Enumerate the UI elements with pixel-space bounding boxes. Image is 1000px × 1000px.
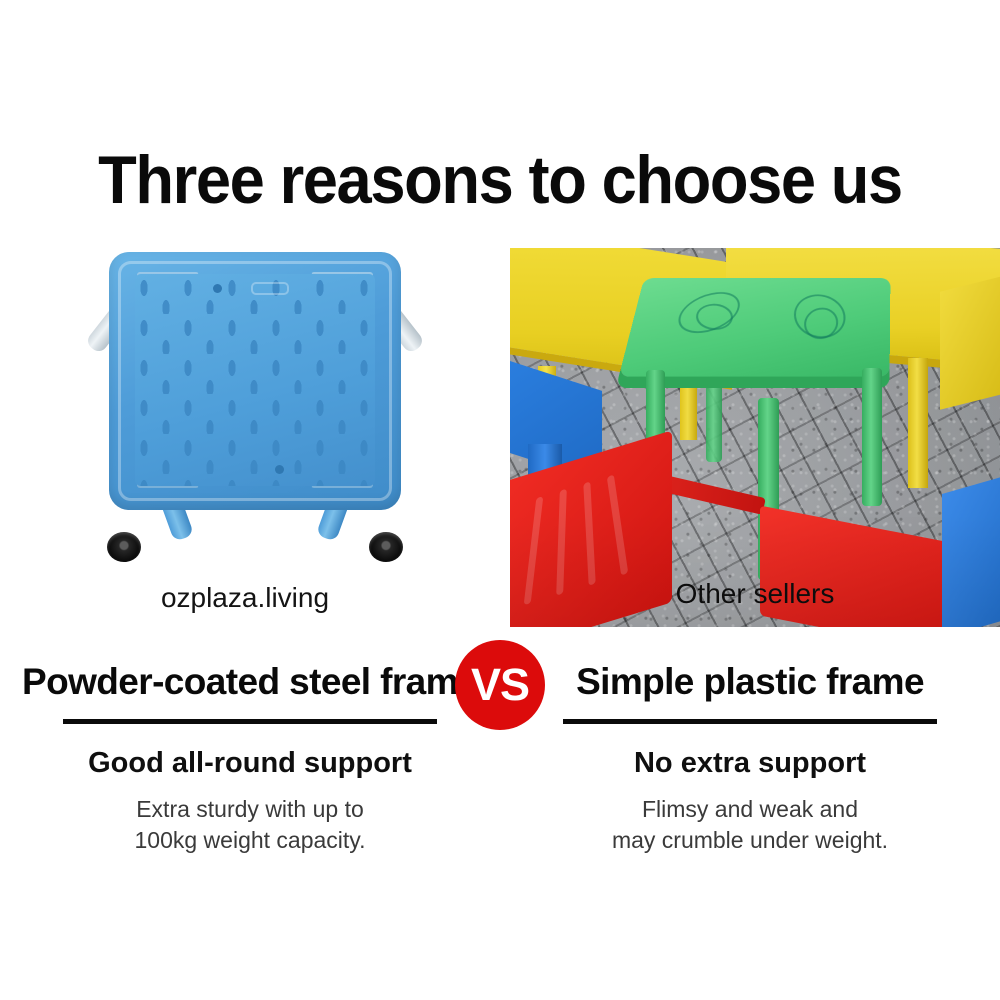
comparison-column-ozplaza: Powder-coated steel frame Good all-round… bbox=[0, 660, 500, 856]
page-title: Three reasons to choose us bbox=[35, 143, 965, 217]
rubber-foot-bottom-left bbox=[107, 532, 141, 562]
photo-vignette bbox=[510, 248, 1000, 627]
rubber-foot-bottom-right bbox=[369, 532, 403, 562]
left-body-text: Extra sturdy with up to 100kg weight cap… bbox=[0, 794, 500, 856]
panel-dimple-texture bbox=[135, 274, 375, 486]
panel-hole-lower bbox=[275, 465, 284, 474]
caption-other-sellers: Other sellers bbox=[510, 578, 1000, 610]
comparison-media-band: ozplaza.living bbox=[0, 248, 1000, 628]
panel-slot bbox=[251, 282, 289, 295]
right-divider bbox=[563, 719, 937, 724]
left-heading: Powder-coated steel frame bbox=[0, 660, 500, 704]
product-image-ozplaza-table bbox=[95, 252, 415, 582]
left-subheading: Good all-round support bbox=[0, 746, 500, 780]
caption-ozplaza: ozplaza.living bbox=[0, 582, 490, 614]
infographic-page: Three reasons to choose us bbox=[0, 0, 1000, 1000]
comparison-column-other-sellers: Simple plastic frame No extra support Fl… bbox=[500, 660, 1000, 856]
right-heading: Simple plastic frame bbox=[500, 660, 1000, 704]
left-divider bbox=[63, 719, 437, 724]
right-subheading: No extra support bbox=[500, 746, 1000, 780]
vs-label: VS bbox=[471, 662, 529, 707]
table-textured-panel bbox=[135, 274, 375, 486]
table-underside-body bbox=[109, 252, 401, 510]
right-body-text: Flimsy and weak and may crumble under we… bbox=[500, 794, 1000, 856]
vs-badge: VS bbox=[455, 640, 545, 730]
panel-hole-upper bbox=[213, 284, 222, 293]
competitor-photo bbox=[510, 248, 1000, 627]
